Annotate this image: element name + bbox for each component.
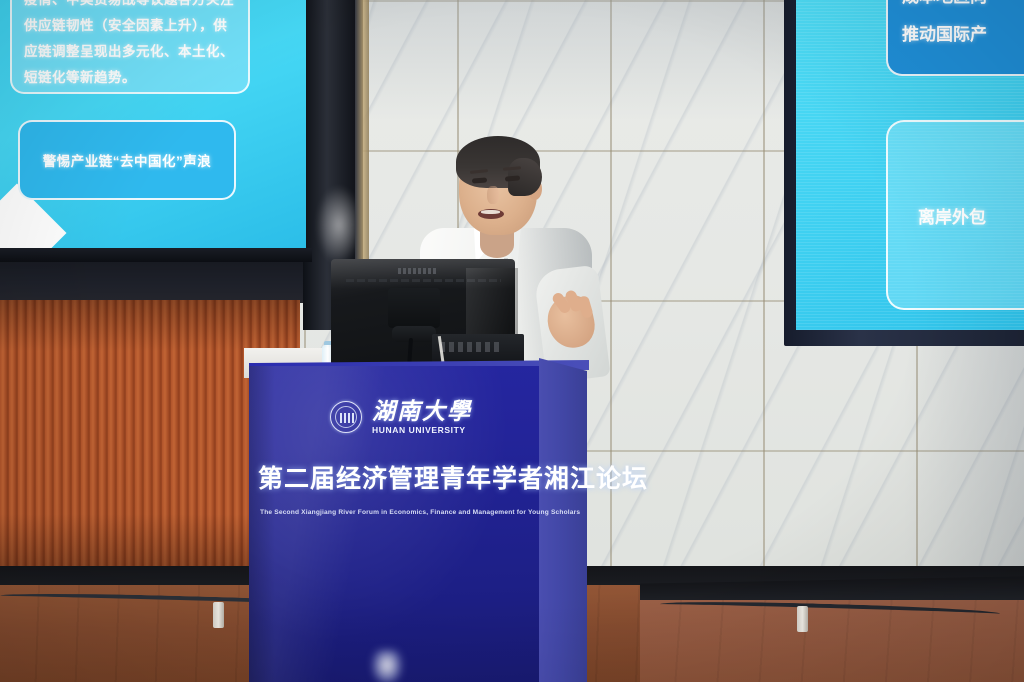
monitor-brand-mark bbox=[398, 268, 436, 274]
speaker-nose bbox=[487, 186, 499, 204]
callout-text: 警惕产业链“去中国化”声浪 bbox=[43, 150, 212, 170]
conference-photo-scene: 疫情、中美贸易战等议题各方关注供应链韧性（安全因素上升），供应链调整呈现出多元化… bbox=[0, 0, 1024, 682]
university-name-en: HUNAN UNIVERSITY bbox=[372, 425, 472, 436]
university-name-cn: 湖南大學 bbox=[372, 399, 472, 425]
callout-text: 离岸外包 bbox=[918, 203, 986, 228]
cable-clip-right bbox=[797, 606, 808, 632]
callout-de-sinicization-warning: 警惕产业链“去中国化”声浪 bbox=[18, 120, 236, 200]
callout-offshore-outsourcing: 离岸外包 bbox=[886, 120, 1024, 310]
callout-line-2: 推动国际产 bbox=[902, 16, 1024, 54]
speaker-eye-left bbox=[472, 177, 487, 183]
monitor-stand-mount bbox=[388, 288, 440, 328]
university-seal-icon bbox=[330, 401, 362, 433]
event-title-cn: 第二届经济管理青年学者湘江论坛 bbox=[258, 462, 558, 496]
callout-text: 疫情、中美贸易战等议题各方关注供应链韧性（安全因素上升），供应链调整呈现出多元化… bbox=[24, 0, 236, 91]
podium-left-shading bbox=[249, 366, 275, 682]
callout-line-1: 成本地区向 bbox=[902, 0, 1024, 16]
event-title-en: The Second Xiangjiang River Forum in Eco… bbox=[260, 508, 560, 518]
monitor-io-panel bbox=[432, 334, 524, 364]
callout-cost-region-transfer: 成本地区向 推动国际产 bbox=[886, 0, 1024, 76]
podium-reflected-light bbox=[372, 650, 402, 682]
monitor-stand-neck bbox=[392, 326, 436, 342]
cable-clip-left bbox=[213, 602, 224, 628]
speaker-mouth bbox=[478, 209, 504, 219]
callout-supply-chain-resilience: 疫情、中美贸易战等议题各方关注供应链韧性（安全因素上升），供应链调整呈现出多元化… bbox=[10, 0, 250, 94]
left-screen-bottom-frame bbox=[0, 248, 312, 262]
left-projection-screen: 疫情、中美贸易战等议题各方关注供应链韧性（安全因素上升），供应链调整呈现出多元化… bbox=[0, 0, 306, 252]
university-wordmark: 湖南大學 HUNAN UNIVERSITY bbox=[372, 399, 472, 436]
speaker-hair bbox=[456, 136, 540, 188]
speaker-neckline bbox=[480, 232, 514, 258]
right-led-display: 成本地区向 推动国际产 离岸外包 bbox=[796, 0, 1024, 330]
podium-side-panel bbox=[539, 358, 587, 682]
university-logo-row: 湖南大學 HUNAN UNIVERSITY bbox=[330, 392, 490, 442]
